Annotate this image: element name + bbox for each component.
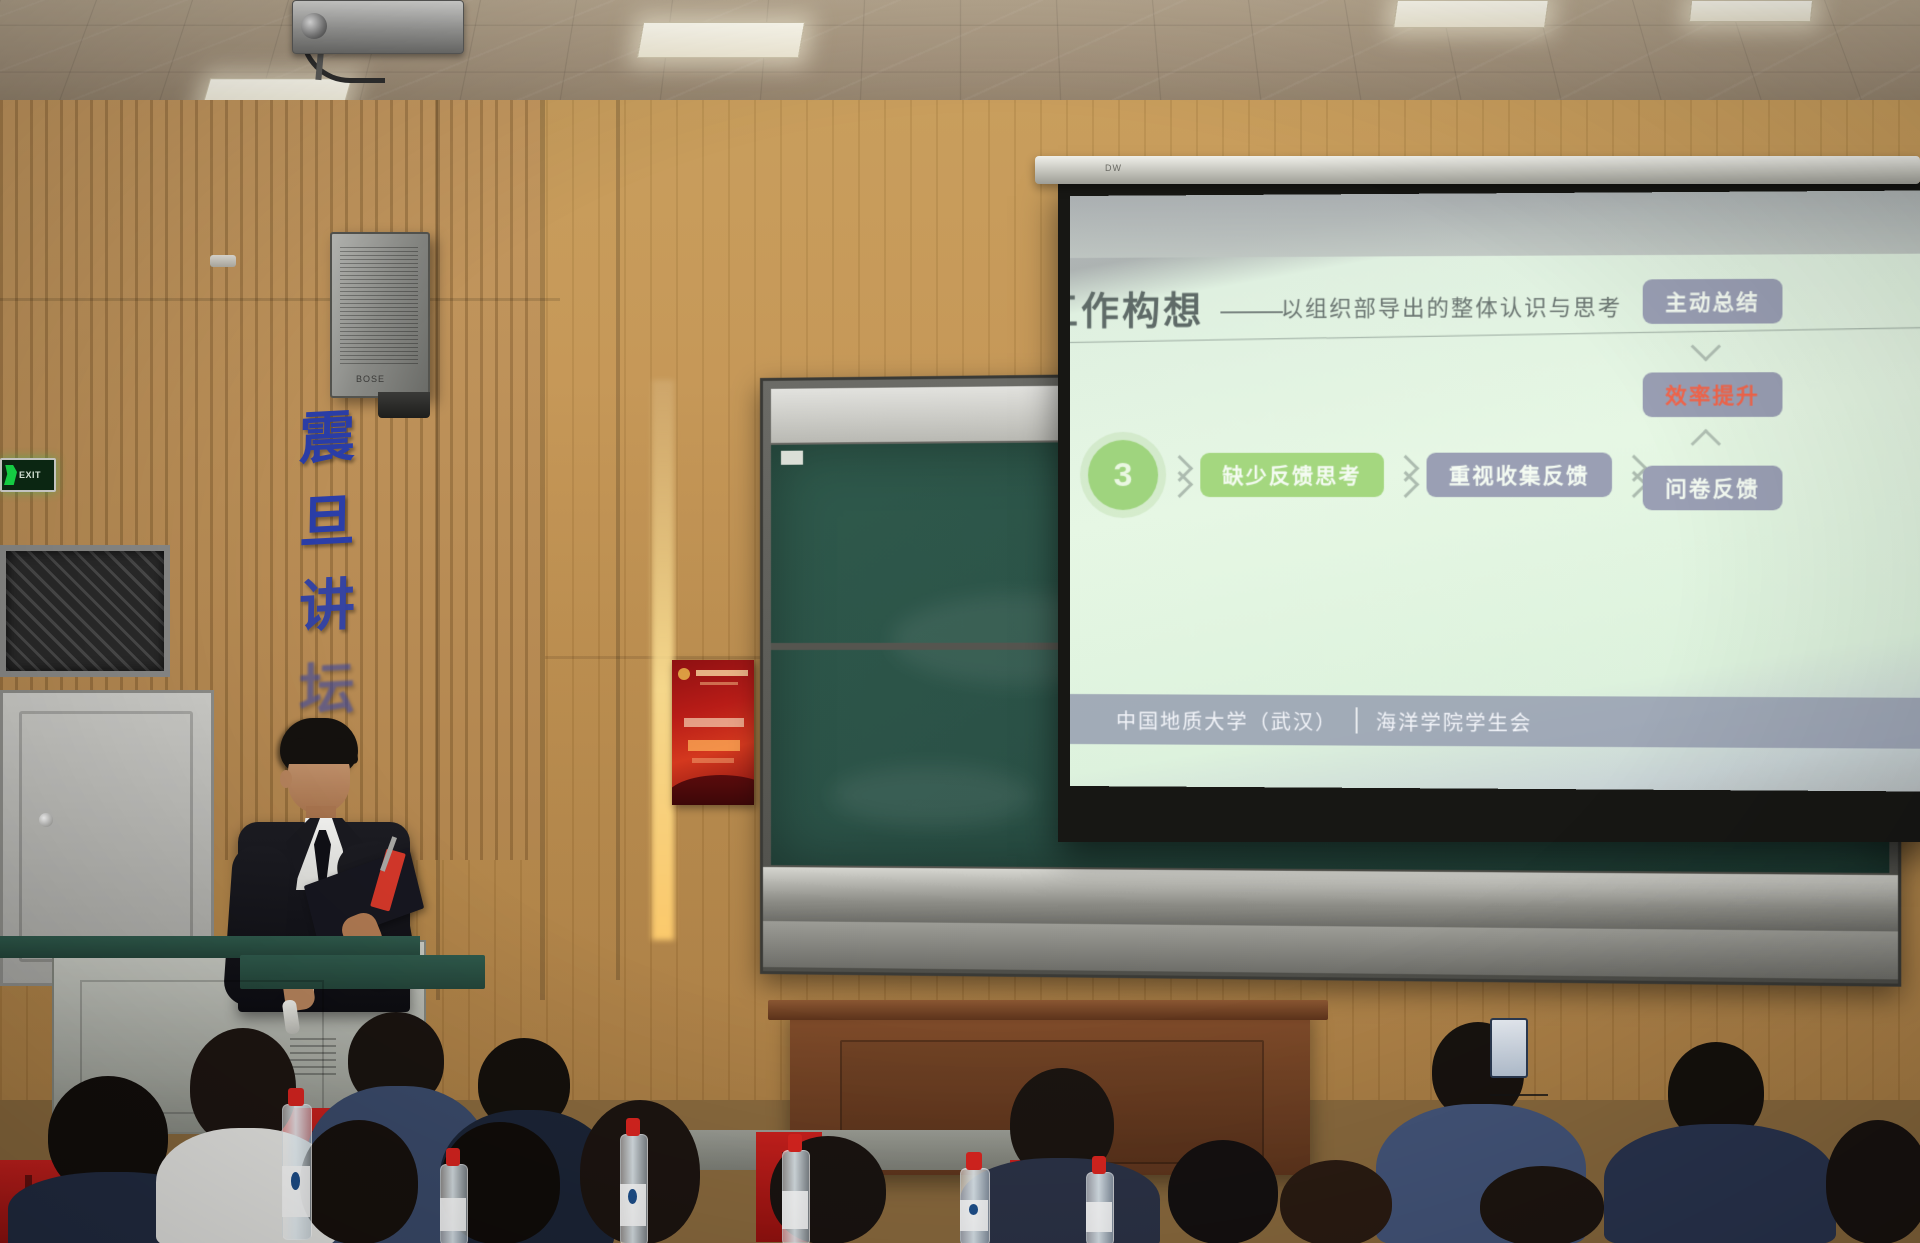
exit-sign-label: EXIT [19, 470, 41, 480]
slide-subtitle: 以组织部导出的整体认识与思考 [1281, 290, 1622, 324]
door-knob[interactable] [39, 813, 53, 827]
water-bottle[interactable] [440, 1148, 466, 1243]
calligraphy-char: 旦 [299, 492, 356, 551]
bottle-cap [626, 1118, 641, 1136]
red-wall-poster [672, 660, 754, 805]
lecture-hall-photo: BOSE EXIT 震 旦 讲 坛 教学板 DW [0, 0, 1920, 1243]
flow-pill-2: 重视收集反馈 [1427, 453, 1612, 498]
step-number-badge: 3 [1088, 440, 1158, 510]
projector-lens-icon [301, 13, 327, 39]
phone-icon[interactable] [1490, 1018, 1528, 1078]
ceiling-light [1689, 0, 1813, 22]
person-head [1168, 1140, 1278, 1243]
water-bottle[interactable] [282, 1088, 310, 1238]
poster-text-line [684, 718, 744, 727]
water-bottle[interactable] [620, 1118, 646, 1243]
person-head [1480, 1166, 1604, 1243]
poster-graphic [672, 775, 754, 805]
slide-footer: 中国地质大学（武汉） 海洋学院学生会 [1070, 694, 1920, 749]
bottle-cap [288, 1088, 304, 1106]
slide-footer-department: 海洋学院学生会 [1376, 706, 1532, 736]
running-person-icon [4, 465, 17, 485]
flow-pill-1: 缺少反馈思考 [1200, 453, 1384, 497]
slide-title: 工作构想 [1070, 279, 1204, 335]
wall-seam [540, 100, 545, 1000]
slide-flow-row: 3 缺少反馈思考 重视收集反馈 [1088, 439, 1645, 510]
person-head [1826, 1120, 1920, 1243]
person-head-marker [462, 1040, 476, 1054]
stack-pill-top: 主动总结 [1643, 279, 1783, 324]
bottle-label [782, 1191, 808, 1228]
ceiling-light [1393, 0, 1549, 28]
cabinet-vent [290, 1035, 336, 1075]
calligraphy-char: 震 [299, 408, 356, 467]
bottle-cap [966, 1152, 982, 1170]
presenter-ear [280, 770, 292, 788]
exit-sign: EXIT [0, 458, 56, 492]
slide-top-band [1070, 190, 1920, 258]
bottle-logo-icon [628, 1189, 637, 1204]
screen-case-label: DW [1105, 163, 1122, 173]
chevron-right-icon [1622, 455, 1645, 496]
wall-seam [436, 100, 440, 1000]
projection-screen-case: DW [1035, 156, 1920, 184]
door-panel-inset [19, 711, 193, 962]
poster-text-line [688, 740, 740, 751]
calligraphy-char: 坛 [299, 660, 356, 719]
poster-text-line [700, 682, 738, 685]
poster-text-line [696, 670, 748, 676]
stack-pill-middle: 效率提升 [1643, 372, 1783, 417]
presenter-fringe [282, 738, 358, 764]
wall-seam [0, 298, 560, 301]
slide-title-dash [1220, 311, 1282, 313]
poster-text-line [692, 758, 734, 763]
wall-vent-grille [0, 545, 170, 677]
wall-light-strip [652, 380, 674, 940]
bottle-logo-icon [969, 1204, 979, 1215]
slide-stack-column: 主动总结 效率提升 问卷反馈 [1643, 279, 1783, 511]
bottle-label [1086, 1202, 1112, 1232]
ceiling-light [637, 22, 805, 58]
ceiling-projector [292, 0, 464, 54]
smoke-detector-icon [210, 255, 236, 267]
poster-emblem-icon [678, 668, 690, 680]
bottle-cap [446, 1148, 461, 1166]
chalk-piece [781, 451, 803, 465]
speaker-grille [340, 244, 418, 364]
blackboard-lower-rail [763, 921, 1898, 979]
projected-slide: 工作构想 以组织部导出的整体认识与思考 3 缺少反馈思考 重视收集反馈 主动总结… [1070, 190, 1920, 791]
calligraphy-char: 讲 [299, 576, 356, 635]
chevron-up-icon [1689, 429, 1736, 453]
bottle-cap [788, 1134, 803, 1152]
person-shoulders [960, 1158, 1160, 1243]
chalk-smudge [831, 765, 1033, 826]
water-bottle[interactable] [782, 1134, 808, 1243]
bottle-cap [1092, 1156, 1107, 1174]
speaker-brand-label: BOSE [356, 374, 385, 384]
chevron-right-icon [1168, 455, 1190, 495]
eyeglasses-icon [1490, 1094, 1548, 1108]
chevron-down-icon [1689, 336, 1736, 360]
wall-calligraphy: 震 旦 讲 坛 [282, 410, 372, 718]
slide-footer-organization: 中国地质大学（武汉） [1116, 705, 1337, 735]
lectern-top [768, 1000, 1328, 1020]
person-shoulders [1604, 1124, 1836, 1243]
person-head [300, 1120, 418, 1243]
stack-pill-bottom: 问卷反馈 [1643, 466, 1783, 511]
bottle-label [440, 1198, 466, 1231]
person-head [1280, 1160, 1392, 1243]
footer-divider [1356, 707, 1358, 733]
water-bottle[interactable] [1086, 1156, 1112, 1243]
chevron-right-icon [1394, 455, 1416, 495]
wall-seam [616, 100, 620, 980]
speaker-mount-bracket [378, 392, 430, 418]
wall-speaker: BOSE [330, 232, 430, 398]
water-bottle[interactable] [960, 1152, 988, 1243]
